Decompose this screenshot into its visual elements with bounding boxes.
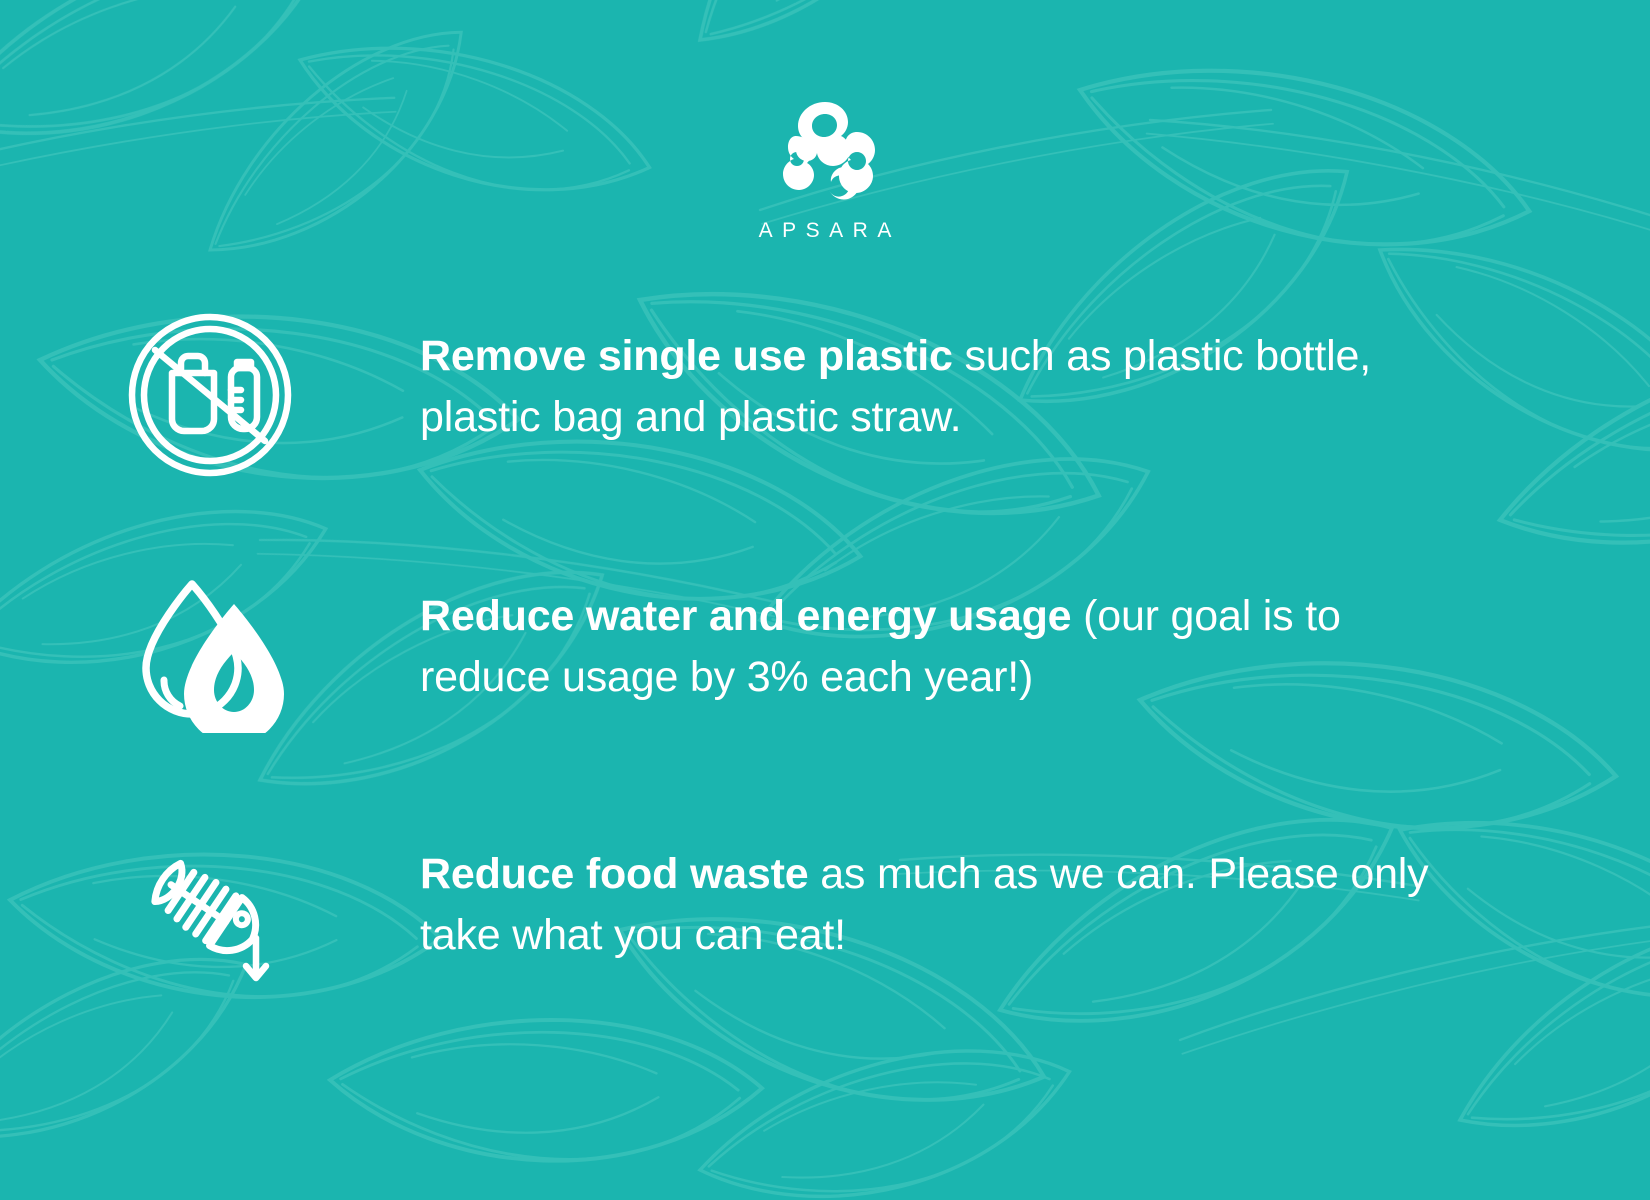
message-row-food: Reduce food waste as much as we can. Ple… <box>0 816 1650 1074</box>
message-text-water: Reduce water and energy usage (our goal … <box>420 586 1480 708</box>
water-drop-icon <box>130 568 290 733</box>
message-list: Remove single use plastic such as plasti… <box>0 300 1650 1074</box>
brand-logo-block: APSARA <box>0 96 1650 241</box>
message-lede-plastic: Remove single use plastic <box>420 332 953 380</box>
no-single-use-plastic-icon <box>125 310 295 480</box>
text-cell-water: Reduce water and energy usage (our goal … <box>420 558 1650 708</box>
message-lede-water: Reduce water and energy usage <box>420 592 1071 640</box>
text-cell-plastic: Remove single use plastic such as plasti… <box>420 300 1650 448</box>
icon-cell-food <box>0 816 420 996</box>
message-lede-food: Reduce food waste <box>420 850 808 898</box>
poster-canvas: APSARA <box>0 0 1650 1200</box>
message-row-water: Reduce water and energy usage (our goal … <box>0 558 1650 816</box>
apsara-cloud-ornament-logo-icon <box>765 96 885 206</box>
icon-cell-plastic <box>0 300 420 480</box>
message-row-plastic: Remove single use plastic such as plasti… <box>0 300 1650 558</box>
text-cell-food: Reduce food waste as much as we can. Ple… <box>420 816 1650 966</box>
message-text-food: Reduce food waste as much as we can. Ple… <box>420 844 1480 966</box>
fish-bone-waste-icon <box>125 826 295 996</box>
message-text-plastic: Remove single use plastic such as plasti… <box>420 326 1480 448</box>
brand-wordmark: APSARA <box>749 220 901 241</box>
icon-cell-water <box>0 558 420 733</box>
